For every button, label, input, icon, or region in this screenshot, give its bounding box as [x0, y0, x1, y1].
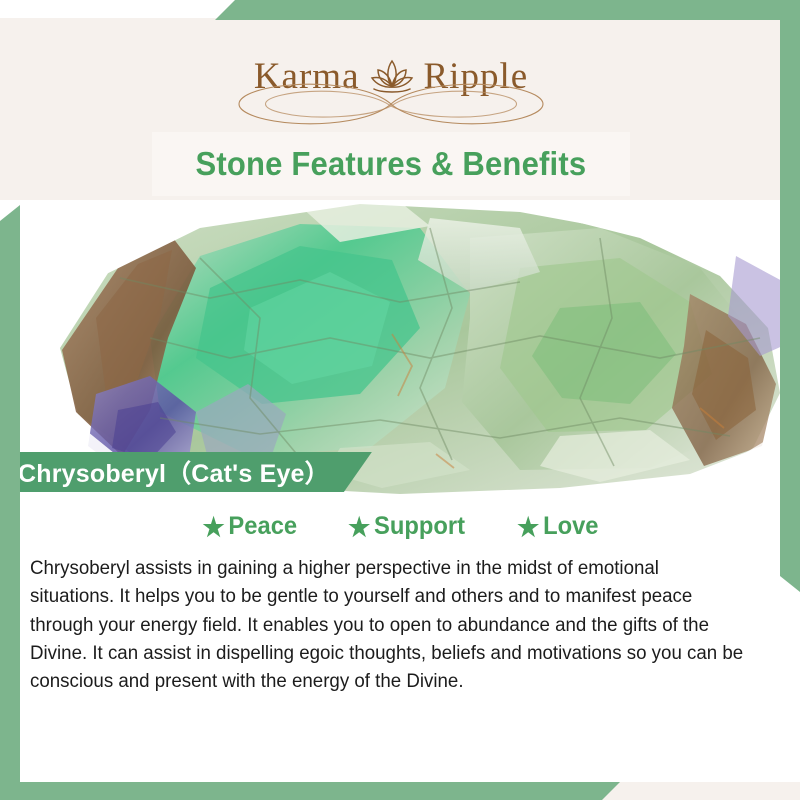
- frame-top-bar: [215, 0, 800, 20]
- keyword-peace: ★ Peace: [202, 512, 297, 541]
- keyword-list: ★ Peace ★ Support ★ Love: [20, 512, 780, 541]
- keyword-label: Peace: [228, 512, 297, 541]
- stone-name-label: Chrysoberyl（Cat's Eye）: [18, 454, 330, 490]
- lotus-flower-icon: [366, 53, 418, 99]
- brand-logo: Karma Ripple: [0, 40, 782, 112]
- brand-name-left: Karma: [254, 58, 360, 95]
- content-area: ★ Peace ★ Support ★ Love Chrysoberyl ass…: [20, 498, 780, 782]
- keyword-label: Love: [543, 512, 598, 541]
- keyword-love: ★ Love: [517, 512, 598, 541]
- section-title-banner: Stone Features & Benefits: [152, 132, 630, 196]
- stone-description: Chrysoberyl assists in gaining a higher …: [30, 555, 748, 697]
- stone-name-tag: Chrysoberyl（Cat's Eye）: [0, 452, 372, 492]
- star-icon: ★: [348, 514, 370, 540]
- brand-name-right: Ripple: [424, 58, 529, 95]
- stone-info-card: Karma Ripple: [0, 0, 800, 800]
- frame-left-bar: [0, 205, 20, 800]
- keyword-support: ★ Support: [348, 512, 465, 541]
- frame-right-bar: [780, 0, 800, 592]
- page-title: Stone Features & Benefits: [196, 145, 587, 183]
- frame-bottom-bar: [0, 782, 620, 800]
- star-icon: ★: [202, 514, 224, 540]
- star-icon: ★: [517, 514, 539, 540]
- keyword-label: Support: [374, 512, 465, 541]
